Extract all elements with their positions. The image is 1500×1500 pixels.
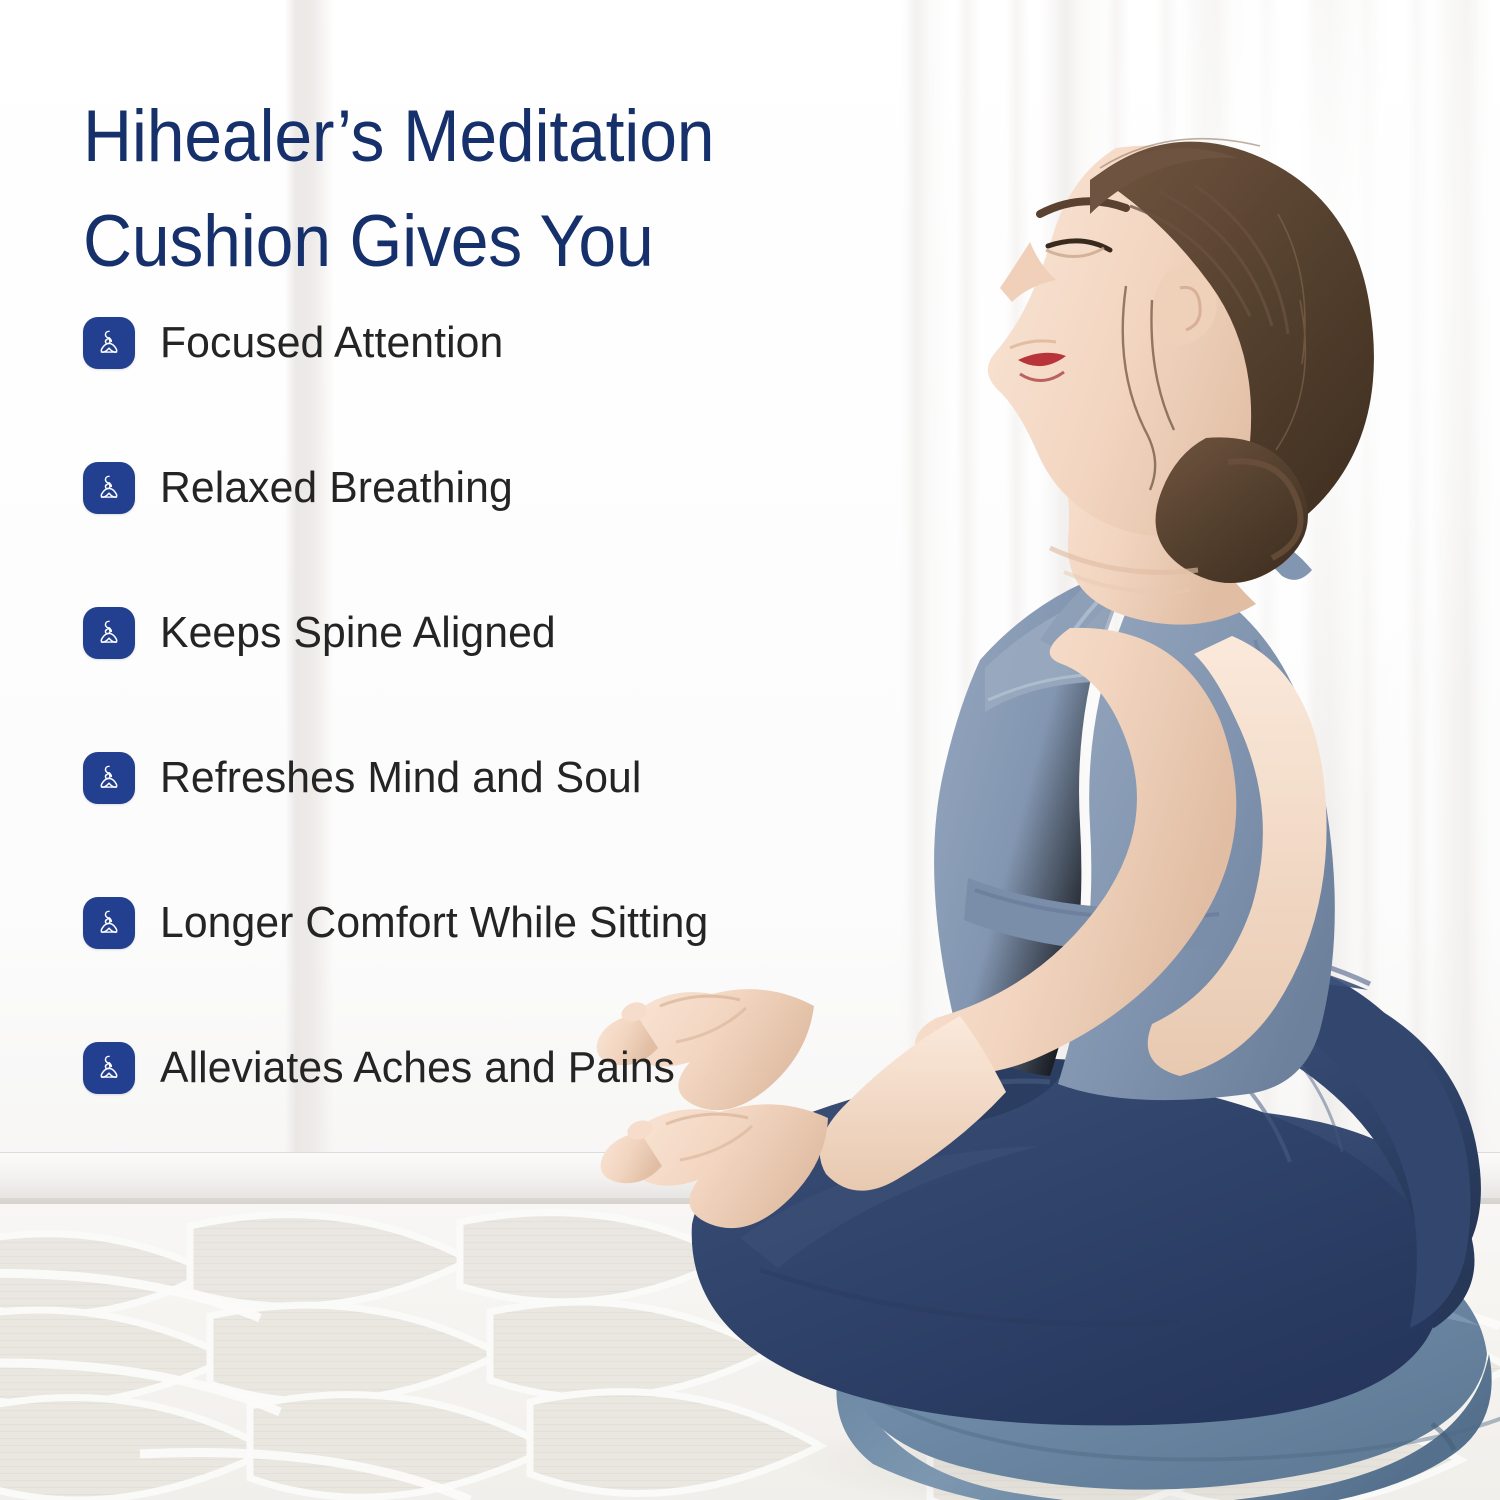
meditation-lotus-icon (83, 317, 135, 369)
benefits-list: Focused Attention Relaxed Breathing (83, 317, 913, 1094)
meditation-lotus-icon (83, 897, 135, 949)
benefit-label: Relaxed Breathing (160, 466, 513, 510)
list-item: Longer Comfort While Sitting (83, 897, 913, 949)
list-item: Refreshes Mind and Soul (83, 752, 913, 804)
list-item: Keeps Spine Aligned (83, 607, 913, 659)
benefit-label: Focused Attention (160, 321, 503, 365)
benefit-label: Longer Comfort While Sitting (160, 901, 708, 945)
benefit-label: Alleviates Aches and Pains (160, 1046, 675, 1090)
meditation-lotus-icon (83, 607, 135, 659)
meditation-lotus-icon (83, 1042, 135, 1094)
product-lifestyle-banner: Hihealer’s Meditation Cushion Gives You … (0, 0, 1500, 1500)
meditation-lotus-icon (83, 462, 135, 514)
list-item: Relaxed Breathing (83, 462, 913, 514)
benefit-label: Refreshes Mind and Soul (160, 756, 641, 800)
page-title: Hihealer’s Meditation Cushion Gives You (83, 84, 901, 294)
list-item: Alleviates Aches and Pains (83, 1042, 913, 1094)
benefit-label: Keeps Spine Aligned (160, 611, 556, 655)
meditation-lotus-icon (83, 752, 135, 804)
list-item: Focused Attention (83, 317, 913, 369)
